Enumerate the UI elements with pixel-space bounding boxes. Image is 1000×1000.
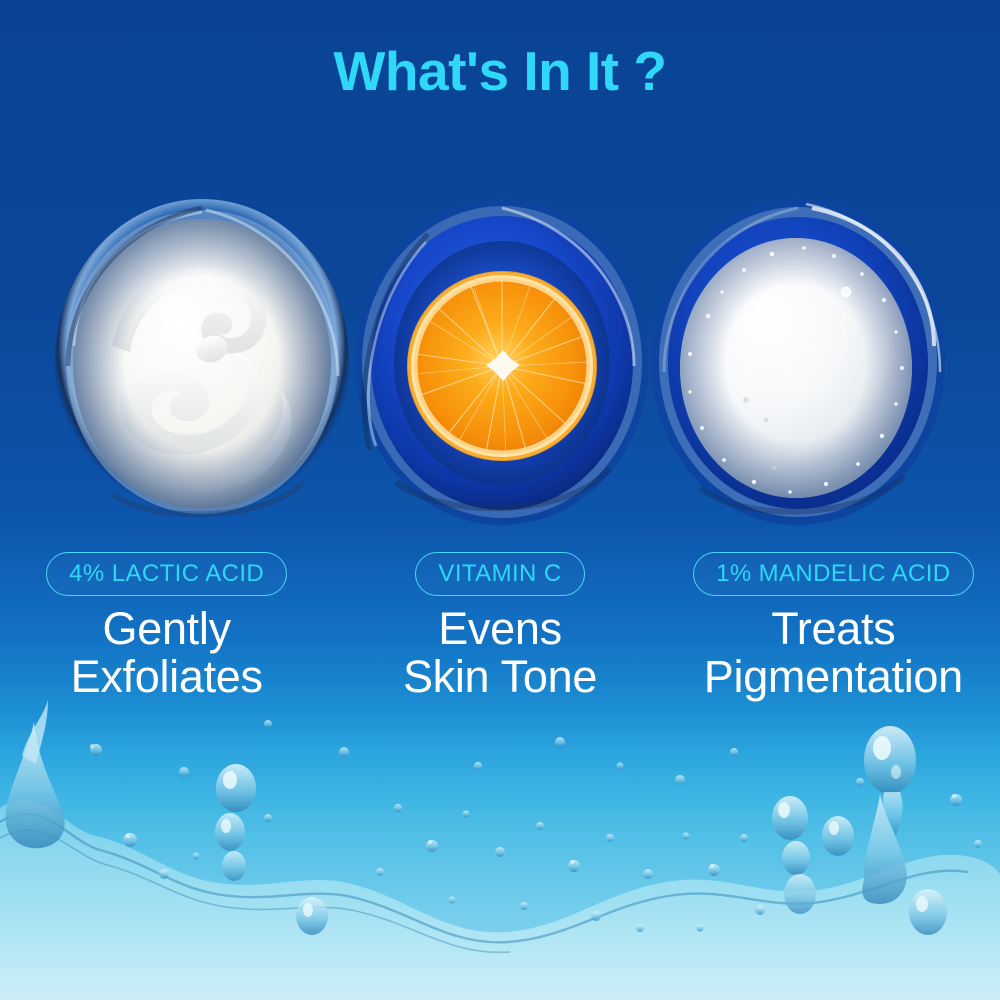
powder-bowl-image bbox=[648, 196, 948, 526]
promo-banner: What's In It ? bbox=[0, 0, 1000, 1000]
badge-lactic-acid[interactable]: 4% LACTIC ACID bbox=[46, 552, 287, 596]
badge-vitamin-c[interactable]: VITAMIN C bbox=[415, 552, 584, 596]
badge-mandelic-acid[interactable]: 1% MANDELIC ACID bbox=[693, 552, 973, 596]
orange-bowl-image bbox=[352, 196, 652, 526]
cream-bowl-image bbox=[52, 196, 352, 526]
page-title: What's In It ? bbox=[0, 44, 1000, 99]
ingredient-images-row bbox=[0, 196, 1000, 531]
water-splash-image bbox=[0, 660, 1000, 1000]
